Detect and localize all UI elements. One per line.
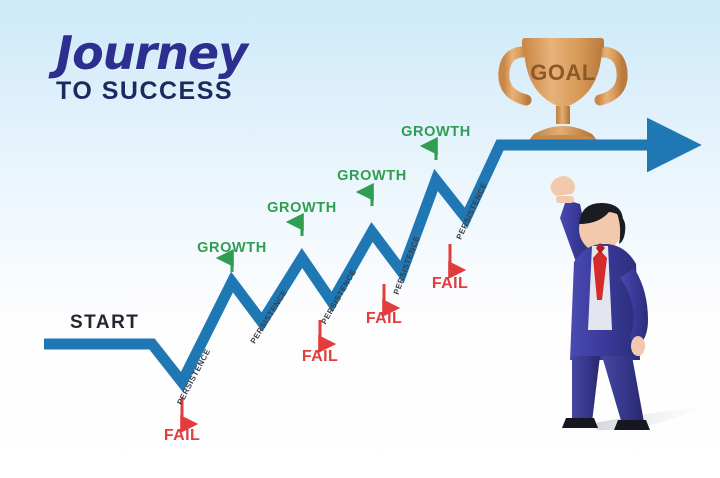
infographic-canvas: Journey TO SUCCESS START — [0, 0, 720, 478]
businessman-graphic — [0, 0, 720, 478]
